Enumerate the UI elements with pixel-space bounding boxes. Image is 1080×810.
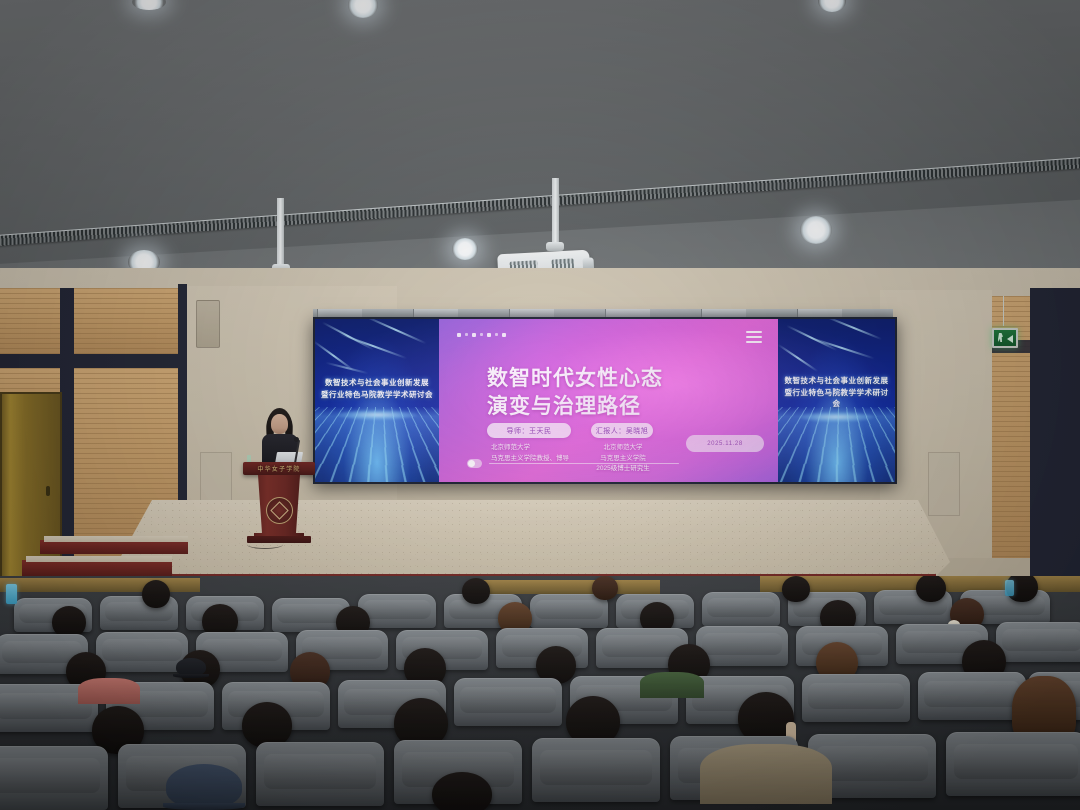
theater-seat — [696, 626, 788, 666]
running-man-glyph — [998, 333, 1003, 342]
downlight-icon — [800, 216, 832, 244]
front-row-ledge — [0, 578, 200, 592]
advisor-affiliation-line1: 北京师范大学 — [491, 443, 569, 454]
audience-shoulders — [640, 672, 704, 698]
presenter-affiliation-line3: 2025级博士研究生 — [593, 464, 653, 475]
slide-title: 数智时代女性心态 演变与治理路径 — [487, 365, 663, 422]
downlight-icon — [348, 0, 378, 18]
stage-step-tread — [44, 536, 188, 542]
wall-trim-vertical — [1030, 288, 1080, 588]
theater-seat — [0, 746, 108, 810]
slide-toggle-control[interactable] — [467, 459, 482, 468]
theater-seat — [918, 672, 1026, 720]
theater-seat — [256, 742, 384, 806]
slide-progress-dots — [457, 333, 506, 337]
downlight-icon — [818, 0, 846, 12]
microphone-icon — [294, 437, 299, 442]
digital-grid-floor — [778, 407, 895, 482]
emergency-exit-icon — [992, 328, 1018, 348]
cap-brim — [173, 674, 209, 678]
screen-side-headline: 数智技术与社会事业创新发展 暨行业特色马院教学学术研讨会 — [783, 375, 891, 410]
theater-seat — [996, 622, 1080, 662]
projector-mount-pole — [277, 198, 284, 270]
speaker-head — [271, 414, 288, 434]
stage-step — [40, 540, 188, 554]
audience-head — [916, 576, 946, 602]
exit-arrow-glyph — [1007, 335, 1013, 343]
podium-label: 中华女子学院 — [243, 464, 315, 473]
theater-seat — [532, 738, 660, 802]
downlight-icon — [452, 238, 478, 260]
baseball-cap — [166, 764, 242, 808]
led-display-screen: 数智技术与社会事业创新发展 暨行业特色马院教学学术研讨会 数智时代女性心态 演变… — [313, 317, 897, 484]
screen-panel-center-slide: 数智时代女性心态 演变与治理路径 导师：王天民 汇报人：吴晓旭 北京师范大学 马… — [439, 319, 778, 482]
audience-seating-area — [0, 576, 1080, 810]
theater-seat — [802, 674, 910, 722]
downlight-icon — [132, 0, 166, 10]
slide-title-line1: 数智时代女性心态 — [487, 365, 663, 393]
theater-seat — [530, 594, 608, 628]
advisor-pill: 导师：王天民 — [487, 423, 571, 438]
side-headline-line1: 数智技术与社会事业创新发展 — [320, 377, 434, 389]
conference-hall-photo: 数智技术与社会事业创新发展 暨行业特色马院教学学术研讨会 数智时代女性心态 演变… — [0, 0, 1080, 810]
audience-head — [432, 772, 492, 810]
cap-brim — [163, 803, 245, 810]
audience-shoulders — [78, 678, 140, 704]
podium-top: 中华女子学院 — [243, 462, 315, 475]
tech-streak — [826, 319, 882, 340]
tech-streak — [778, 344, 818, 372]
wall-recess-panel — [928, 452, 960, 516]
projector-mount-pole — [552, 178, 559, 248]
side-headline-line1: 数智技术与社会事业创新发展 — [783, 375, 891, 387]
screen-side-headline: 数智技术与社会事业创新发展 暨行业特色马院教学学术研讨会 — [320, 377, 434, 400]
advisor-affiliation: 北京师范大学 马克思主义学院教授、博导 — [491, 443, 569, 464]
presenter-affiliation-line1: 北京师范大学 — [593, 443, 653, 454]
wood-wall-panel-mid — [74, 288, 178, 354]
presenter-affiliation: 北京师范大学 马克思主义学院 2025级博士研究生 — [593, 443, 653, 475]
floor-cable — [247, 540, 283, 549]
screen-panel-right: 数智技术与社会事业创新发展 暨行业特色马院教学学术研讨会 — [778, 319, 895, 482]
smartphone-screen[interactable] — [1005, 580, 1014, 596]
hamburger-menu-icon[interactable] — [746, 331, 762, 346]
side-headline-line2: 暨行业特色马院教学学术研讨会 — [320, 389, 434, 401]
side-headline-line2: 暨行业特色马院教学学术研讨会 — [783, 387, 891, 410]
theater-seat — [454, 678, 562, 726]
university-emblem-icon — [266, 497, 293, 524]
slide-progress-track[interactable] — [489, 463, 679, 465]
door-handle[interactable] — [46, 486, 50, 496]
stage-step-tread — [26, 556, 172, 562]
audience-head — [592, 576, 618, 600]
audience-shoulders — [700, 744, 832, 804]
stage-step — [22, 560, 172, 576]
screen-panel-left: 数智技术与社会事业创新发展 暨行业特色马院教学学术研讨会 — [315, 319, 439, 482]
stage-surface-texture — [120, 500, 950, 580]
wall-trim-horizontal — [0, 354, 178, 368]
tech-streak — [809, 337, 874, 359]
theater-seat — [96, 632, 188, 672]
slide-date-badge: 2025.11.28 — [686, 435, 764, 452]
wall-speaker — [196, 300, 220, 348]
presenter-pill: 汇报人：吴晓旭 — [591, 423, 653, 438]
audience-head — [142, 580, 170, 608]
smartphone-screen[interactable] — [6, 584, 17, 604]
projector-mount-bracket — [546, 242, 564, 251]
exit-sign-wire — [1003, 296, 1004, 326]
tech-streak — [339, 333, 407, 359]
baseball-cap — [176, 658, 206, 676]
slide-title-line2: 演变与治理路径 — [487, 393, 663, 421]
digital-grid-floor — [315, 407, 439, 482]
theater-seat — [702, 592, 780, 626]
front-row-ledge — [470, 580, 660, 594]
audience-head — [782, 576, 810, 602]
tech-streak — [366, 319, 427, 344]
theater-seat — [946, 732, 1080, 796]
audience-head — [462, 578, 490, 604]
